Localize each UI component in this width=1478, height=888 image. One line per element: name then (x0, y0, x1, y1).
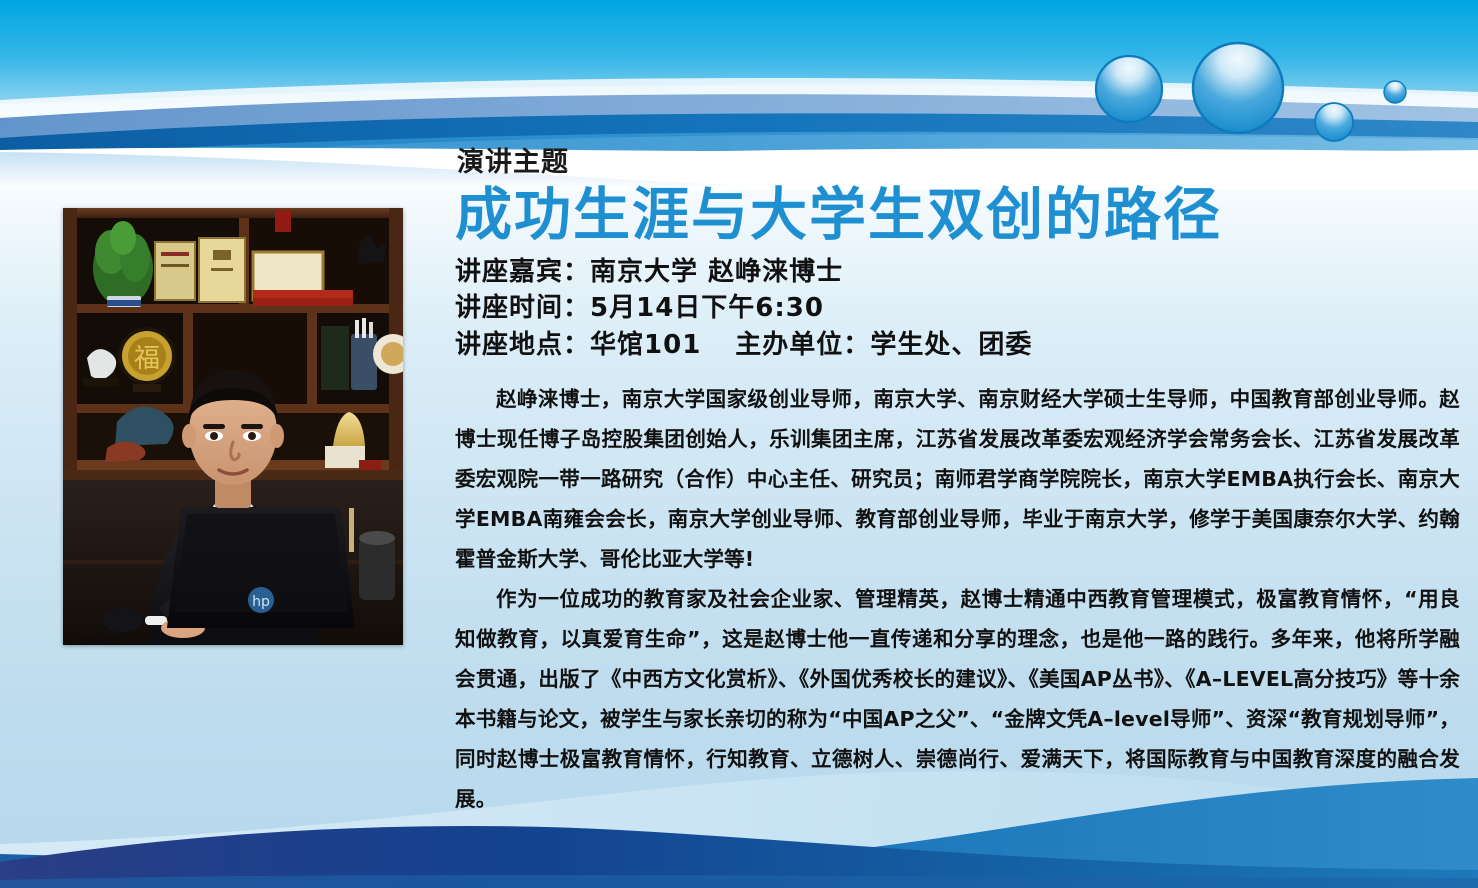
meta-row-guest: 讲座嘉宾：南京大学 赵峥涞博士 (455, 254, 1460, 291)
poster-canvas: 福 (0, 0, 1478, 888)
meta-value-time: 5月14日下午6:30 (590, 293, 824, 323)
biography-body: 赵峥涞博士，南京大学国家级创业导师，南京大学、南京财经大学硕士生导师，中国教育部… (455, 380, 1460, 820)
svg-text:hp: hp (252, 594, 270, 610)
meta-value-venue: 华馆101 (590, 330, 701, 360)
paragraph-1: 赵峥涞博士，南京大学国家级创业导师，南京大学、南京财经大学硕士生导师，中国教育部… (455, 380, 1460, 580)
page-title: 成功生涯与大学生双创的路径 (455, 184, 1460, 248)
meta-label-organizer: 主办单位： (735, 330, 870, 360)
meta-label-guest: 讲座嘉宾： (455, 257, 590, 287)
footer-wave-decoration (0, 758, 1478, 888)
poster-content: 演讲主题 成功生涯与大学生双创的路径 讲座嘉宾：南京大学 赵峥涞博士 讲座时间：… (455, 148, 1460, 820)
svg-text:福: 福 (134, 344, 160, 374)
meta-label-time: 讲座时间： (455, 293, 590, 323)
meta-row-time: 讲座时间：5月14日下午6:30 (455, 290, 1460, 327)
meta-value-guest: 南京大学 赵峥涞博士 (590, 257, 843, 287)
meta-label-venue: 讲座地点： (455, 330, 590, 360)
meta-row-venue: 讲座地点：华馆101主办单位：学生处、团委 (455, 327, 1460, 364)
meta-value-organizer: 学生处、团委 (870, 330, 1032, 360)
lecture-meta: 讲座嘉宾：南京大学 赵峥涞博士 讲座时间：5月14日下午6:30 讲座地点：华馆… (455, 254, 1460, 365)
kicker-label: 演讲主题 (457, 148, 1460, 178)
speaker-photo: 福 (63, 208, 403, 645)
